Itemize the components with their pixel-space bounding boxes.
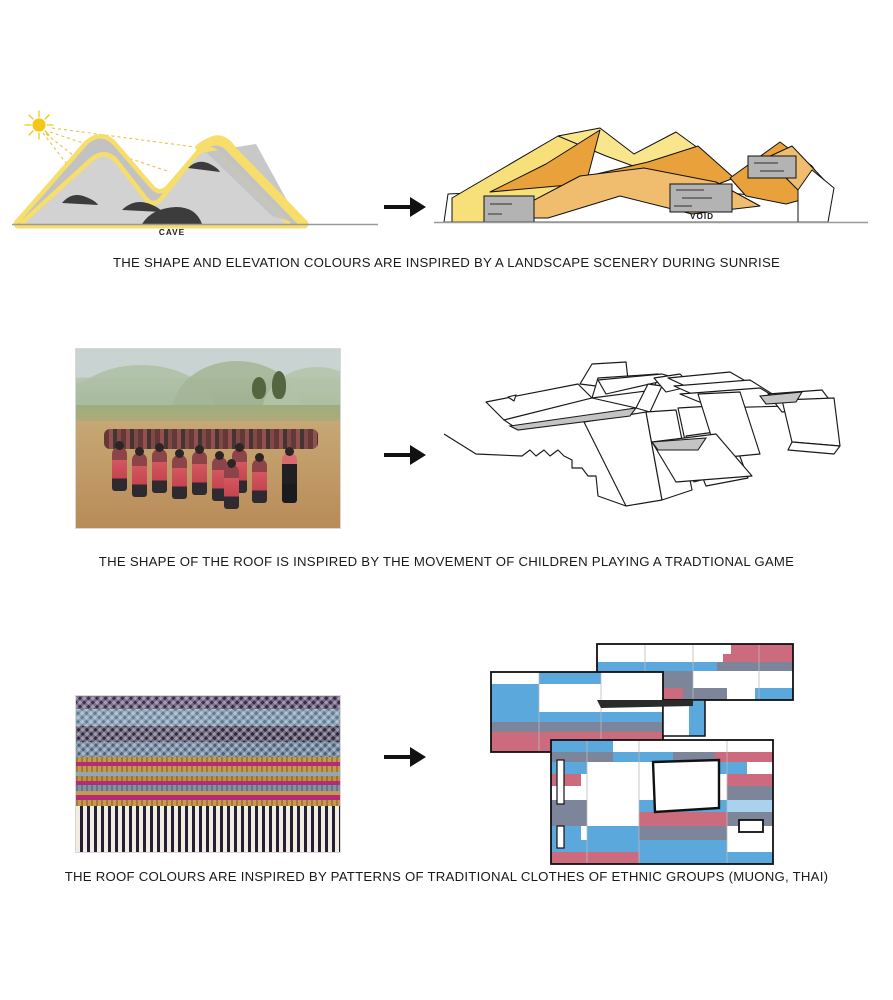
tree-shape xyxy=(272,371,286,399)
child-figure xyxy=(132,453,147,497)
traditional-textile-photo xyxy=(75,695,341,853)
roof-axon-svg xyxy=(430,350,850,520)
building-elevation-diagram: VOID xyxy=(430,118,870,243)
textile-band xyxy=(76,696,340,709)
child-figure xyxy=(172,455,187,499)
small-void-rectangle xyxy=(739,820,763,832)
child-figure xyxy=(224,465,239,509)
caption-landscape: THE SHAPE AND ELEVATION COLOURS ARE INSP… xyxy=(0,255,893,270)
textile-band xyxy=(76,742,340,757)
courtyard-void-cutout xyxy=(653,760,719,812)
child-figure xyxy=(252,459,267,503)
children-playing-photo xyxy=(75,348,341,529)
transform-arrow-3 xyxy=(382,742,428,772)
child-figure xyxy=(112,447,127,491)
textile-band xyxy=(76,726,340,742)
transform-arrow-2 xyxy=(382,440,428,470)
child-figure-tagger xyxy=(282,453,297,503)
child-figure xyxy=(192,451,207,495)
sun-icon xyxy=(32,118,45,131)
landscape-sunrise-diagram: CAVE xyxy=(10,100,380,250)
concept-row-roof-colours xyxy=(0,630,893,890)
concept-row-landscape: CAVE xyxy=(0,100,893,280)
child-figure xyxy=(152,449,167,493)
textile-band xyxy=(76,709,340,726)
tree-shape xyxy=(252,377,266,399)
cave-label: CAVE xyxy=(159,228,185,237)
caption-roof-colours: THE ROOF COLOURS ARE INSPIRED BY PATTERN… xyxy=(0,869,893,884)
roof-axonometric-linework xyxy=(430,350,850,520)
elevation-svg: VOID xyxy=(430,118,870,243)
roof-plan-svg xyxy=(487,636,812,871)
right-arrow-icon xyxy=(382,440,428,470)
roof-colour-plan xyxy=(487,636,812,871)
caption-roof-shape: THE SHAPE OF THE ROOF IS INSPIRED BY THE… xyxy=(0,554,893,569)
transform-arrow-1 xyxy=(382,192,428,222)
void-label: VOID xyxy=(690,212,714,221)
concept-board: CAVE xyxy=(0,0,893,1000)
right-arrow-icon xyxy=(382,192,428,222)
right-arrow-icon xyxy=(382,742,428,772)
textile-fringe xyxy=(76,806,340,852)
landscape-svg: CAVE xyxy=(10,100,380,250)
seated-crowd xyxy=(104,429,318,449)
concept-row-roof-shape xyxy=(0,340,893,580)
